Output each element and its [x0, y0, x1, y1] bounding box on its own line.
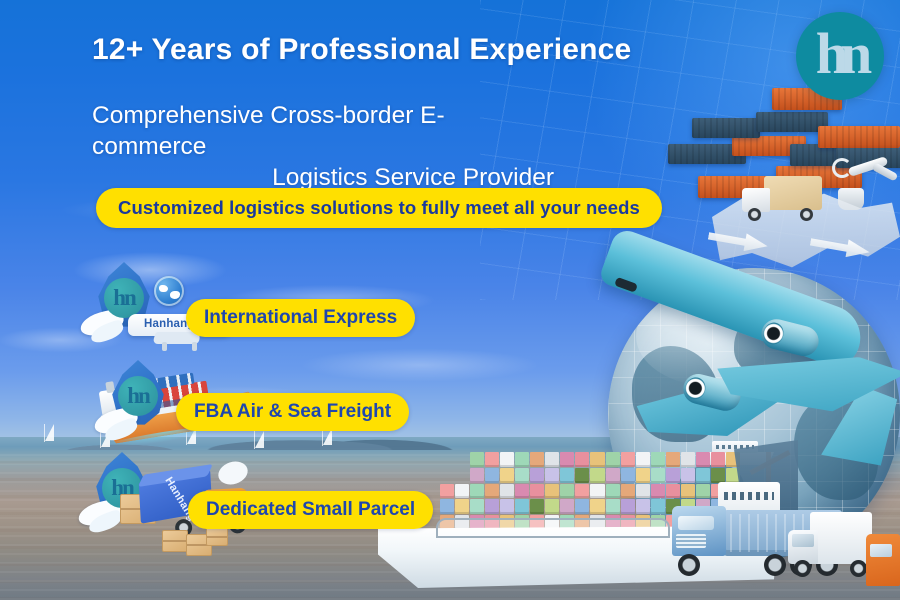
tagline-badge: Customized logistics solutions to fully … [96, 188, 662, 228]
ship-container-cell [515, 484, 529, 499]
subtitle: Comprehensive Cross-border E-commerce Lo… [92, 100, 554, 193]
ship-container-cell [485, 452, 499, 467]
ship-container-cell [530, 499, 544, 514]
ship-container-cell [590, 484, 604, 499]
ship-container-cell [500, 484, 514, 499]
ship-container-cell [545, 484, 559, 499]
ship-container-cell [455, 484, 469, 499]
ship-container-cell [636, 484, 650, 499]
ship-container-cell [696, 468, 710, 483]
ship-container-cell [575, 452, 589, 467]
ship-container-cell [666, 468, 680, 483]
ship-container-cell [621, 499, 635, 514]
ship-container-cell [606, 484, 620, 499]
ship-container-cell [440, 484, 454, 499]
ship-container-cell [696, 484, 710, 499]
sailboat-icon [250, 431, 264, 451]
ship-container-cell [636, 499, 650, 514]
mascot-droplet-logo: hn [110, 360, 166, 426]
service-label: Dedicated Small Parcel [188, 491, 433, 529]
promo-banner: 12+ Years of Professional Experience Com… [0, 0, 900, 600]
ship-container-cell [485, 499, 499, 514]
ship-container-cell [470, 484, 484, 499]
ship-container-cell [575, 468, 589, 483]
ship-container-cell [470, 468, 484, 483]
ship-container-cell [621, 484, 635, 499]
shipping-container [818, 126, 900, 148]
ship-container-cell [575, 499, 589, 514]
ship-container-cell [590, 468, 604, 483]
ship-container-cell [651, 484, 665, 499]
ship-container-cell [560, 484, 574, 499]
service-item-fba-freight[interactable]: FBA Air & Sea Freight [176, 392, 409, 432]
ship-container-cell [470, 452, 484, 467]
ship-container-cell [651, 468, 665, 483]
service-item-small-parcel[interactable]: Dedicated Small Parcel [188, 490, 433, 530]
ship-container-cell [711, 452, 725, 467]
ship-container-cell [560, 468, 574, 483]
ship-container-cell [515, 468, 529, 483]
ship-container-cell [440, 499, 454, 514]
ship-container-cell [651, 452, 665, 467]
ship-container-cell [515, 452, 529, 467]
box-truck-icon [742, 176, 828, 226]
ship-container-cell [711, 468, 725, 483]
ship-container-cell [560, 452, 574, 467]
logo-monogram: hn [127, 383, 149, 409]
globe-icon [154, 276, 184, 306]
ship-container-cell [545, 452, 559, 467]
ship-container-cell [636, 468, 650, 483]
ship-container-cell [696, 452, 710, 467]
ship-container-cell [500, 452, 514, 467]
service-label: FBA Air & Sea Freight [176, 393, 409, 431]
ship-container-cell [651, 499, 665, 514]
ship-container-cell [590, 499, 604, 514]
ship-container-cell [530, 452, 544, 467]
ship-container-cell [560, 499, 574, 514]
orange-van-graphic [866, 534, 900, 586]
ship-container-cell [485, 484, 499, 499]
shipping-container [692, 118, 760, 138]
ship-container-cell [606, 452, 620, 467]
logo-monogram: hn [816, 25, 865, 83]
ship-container-cell [621, 468, 635, 483]
page-title: 12+ Years of Professional Experience [92, 33, 631, 67]
sailboat-icon [40, 424, 54, 444]
ship-container-cell [515, 499, 529, 514]
ship-container-cell [455, 499, 469, 514]
ship-container-cell [666, 452, 680, 467]
ship-container-cell [530, 468, 544, 483]
subtitle-line-1: Comprehensive Cross-border E-commerce [92, 100, 554, 162]
ship-container-cell [545, 499, 559, 514]
ship-container-cell [485, 468, 499, 483]
ship-container-cell [530, 484, 544, 499]
ship-container-cell [606, 499, 620, 514]
ship-container-cell [621, 452, 635, 467]
service-item-international-express[interactable]: International Express [186, 298, 415, 338]
brand-logo[interactable]: hn [796, 12, 884, 100]
ship-container-cell [545, 468, 559, 483]
ship-container-cell [500, 499, 514, 514]
ship-container-cell [666, 484, 680, 499]
ship-container-cell [636, 452, 650, 467]
ship-container-cell [606, 468, 620, 483]
ship-container-cell [681, 452, 695, 467]
ship-container-cell [575, 484, 589, 499]
service-label: International Express [186, 299, 415, 337]
ship-container-cell [470, 499, 484, 514]
ship-container-cell [681, 468, 695, 483]
ship-container-cell [500, 468, 514, 483]
parcel-box-icon [162, 530, 188, 552]
ship-container-cell [590, 452, 604, 467]
ship-container-cell [681, 484, 695, 499]
